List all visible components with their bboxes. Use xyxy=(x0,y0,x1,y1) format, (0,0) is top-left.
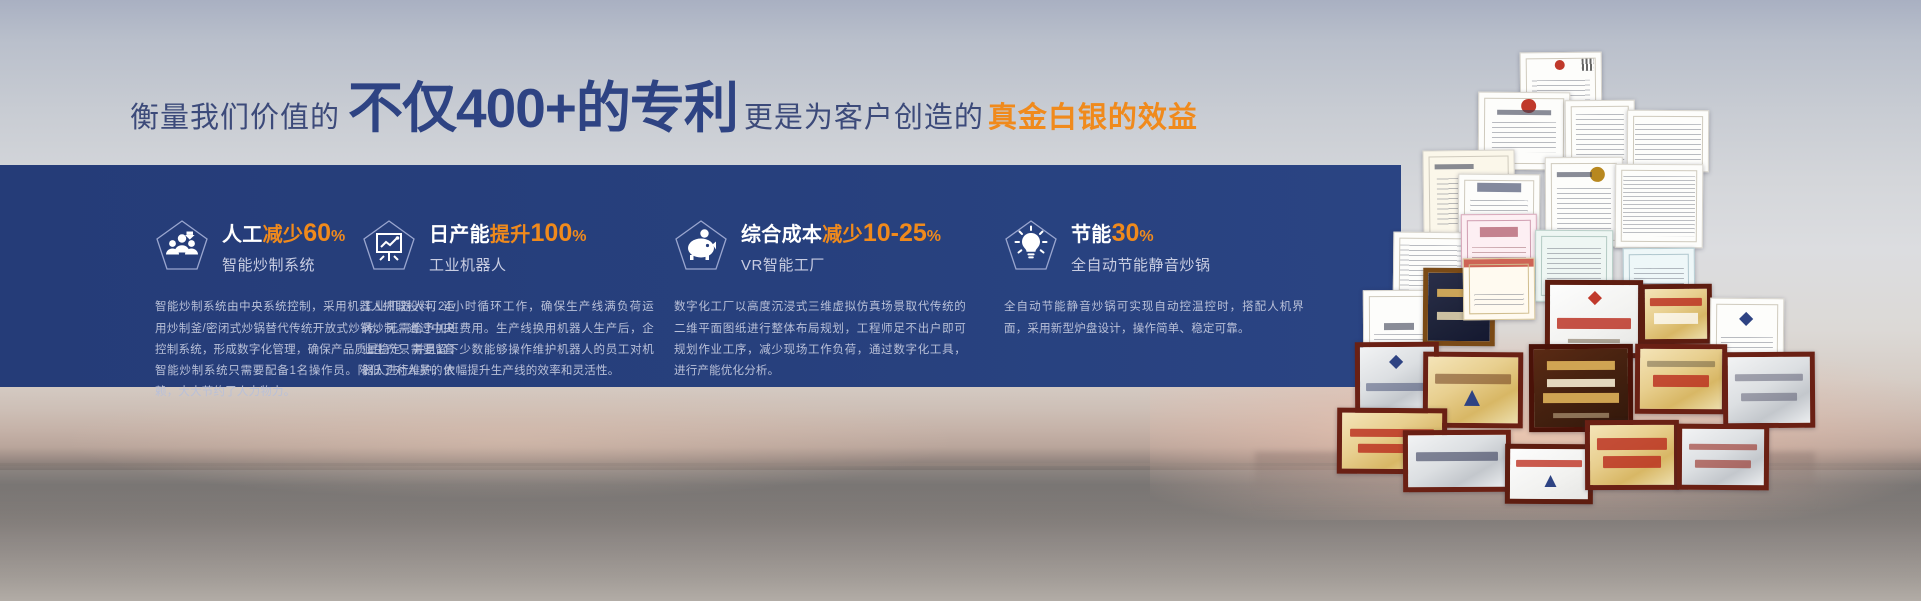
certificate-plaque xyxy=(1585,420,1679,490)
feature-card-titles: 人工减少60% 智能炒制系统 xyxy=(222,218,346,275)
certificate-plaque xyxy=(1635,344,1727,414)
certificate-plaque xyxy=(1403,430,1511,493)
feature-card-subtitle: 智能炒制系统 xyxy=(222,254,346,275)
headline: 衡量我们价值的 不仅400+的专利 更是为客户创造的 真金白银的效益 xyxy=(130,78,1198,136)
feature-card-body: 工业机器人可24小时循环工作，确保生产线满负荷运转，无需给予加班费用。生产线换用… xyxy=(362,297,654,382)
title-highlight: 提升 xyxy=(490,224,531,246)
headline-middle: 更是为客户创造的 xyxy=(744,104,984,136)
certificate-item xyxy=(1615,164,1704,249)
title-highlight: 减少 xyxy=(263,224,304,246)
people-group-icon xyxy=(155,219,209,271)
title-highlight: 减少 xyxy=(822,224,863,246)
title-number: 30 xyxy=(1112,219,1140,247)
certificate-item xyxy=(1463,258,1536,321)
title-unit: % xyxy=(331,228,346,245)
feature-card-body: 数字化工厂以高度沉浸式三维虚拟仿真场景取代传统的二维平面图纸进行整体布局规划，工… xyxy=(674,297,966,382)
headline-accent: 真金白银的效益 xyxy=(984,104,1198,136)
feature-card-title: 人工减少60% xyxy=(222,220,346,246)
certificate-plaque xyxy=(1505,444,1593,504)
feature-card-titles: 日产能提升100% 工业机器人 xyxy=(429,218,587,275)
certificate-plaque xyxy=(1529,344,1633,432)
chart-board-icon xyxy=(362,219,416,271)
headline-emphasis: 不仅400+的专利 xyxy=(340,81,744,136)
title-plain: 综合成本 xyxy=(741,224,822,246)
feature-card-labor[interactable]: 人工减少60% 智能炒制系统 智能炒制系统由中央系统控制，采用机器人抓取投料，运… xyxy=(0,165,352,387)
title-plain: 节能 xyxy=(1071,224,1112,246)
feature-card-title: 日产能提升100% xyxy=(429,220,587,246)
title-number: 60 xyxy=(303,219,331,247)
feature-card-subtitle: VR智能工厂 xyxy=(741,254,941,275)
feature-card-titles: 节能30% 全自动节能静音炒锅 xyxy=(1071,218,1211,275)
banner-stage: 衡量我们价值的 不仅400+的专利 更是为客户创造的 真金白银的效益 xyxy=(0,0,1921,601)
title-unit: % xyxy=(1139,228,1154,245)
feature-card-cost[interactable]: 综合成本减少10-25% VR智能工厂 数字化工厂以高度沉浸式三维虚拟仿真场景取… xyxy=(664,165,994,387)
title-unit: % xyxy=(572,228,587,245)
title-plain: 人工 xyxy=(222,224,263,246)
headline-prefix: 衡量我们价值的 xyxy=(130,104,340,136)
feature-card-header: 人工减少60% 智能炒制系统 xyxy=(155,218,326,275)
certificate-wall xyxy=(1215,52,1855,477)
certificate-item xyxy=(1627,110,1709,172)
lightbulb-icon xyxy=(1004,219,1058,271)
feature-card-title: 节能30% xyxy=(1071,220,1211,246)
title-plain: 日产能 xyxy=(429,224,490,246)
feature-card-subtitle: 工业机器人 xyxy=(429,254,587,275)
feature-card-titles: 综合成本减少10-25% VR智能工厂 xyxy=(741,218,941,275)
feature-card-header: 综合成本减少10-25% VR智能工厂 xyxy=(674,218,968,275)
feature-card-list: 人工减少60% 智能炒制系统 智能炒制系统由中央系统控制，采用机器人抓取投料，运… xyxy=(0,165,1401,387)
feature-card-subtitle: 全自动节能静音炒锅 xyxy=(1071,254,1211,275)
title-number: 10-25 xyxy=(863,219,927,247)
piggy-bank-icon xyxy=(674,219,728,271)
feature-card-title: 综合成本减少10-25% xyxy=(741,220,941,246)
certificate-plaque xyxy=(1640,284,1712,345)
certificate-plaque xyxy=(1723,352,1816,429)
title-unit: % xyxy=(927,228,942,245)
feature-card-header: 日产能提升100% 工业机器人 xyxy=(362,218,638,275)
feature-card-capacity[interactable]: 日产能提升100% 工业机器人 工业机器人可24小时循环工作，确保生产线满负荷运… xyxy=(352,165,664,387)
title-number: 100 xyxy=(531,219,573,247)
certificate-plaque xyxy=(1677,424,1769,491)
